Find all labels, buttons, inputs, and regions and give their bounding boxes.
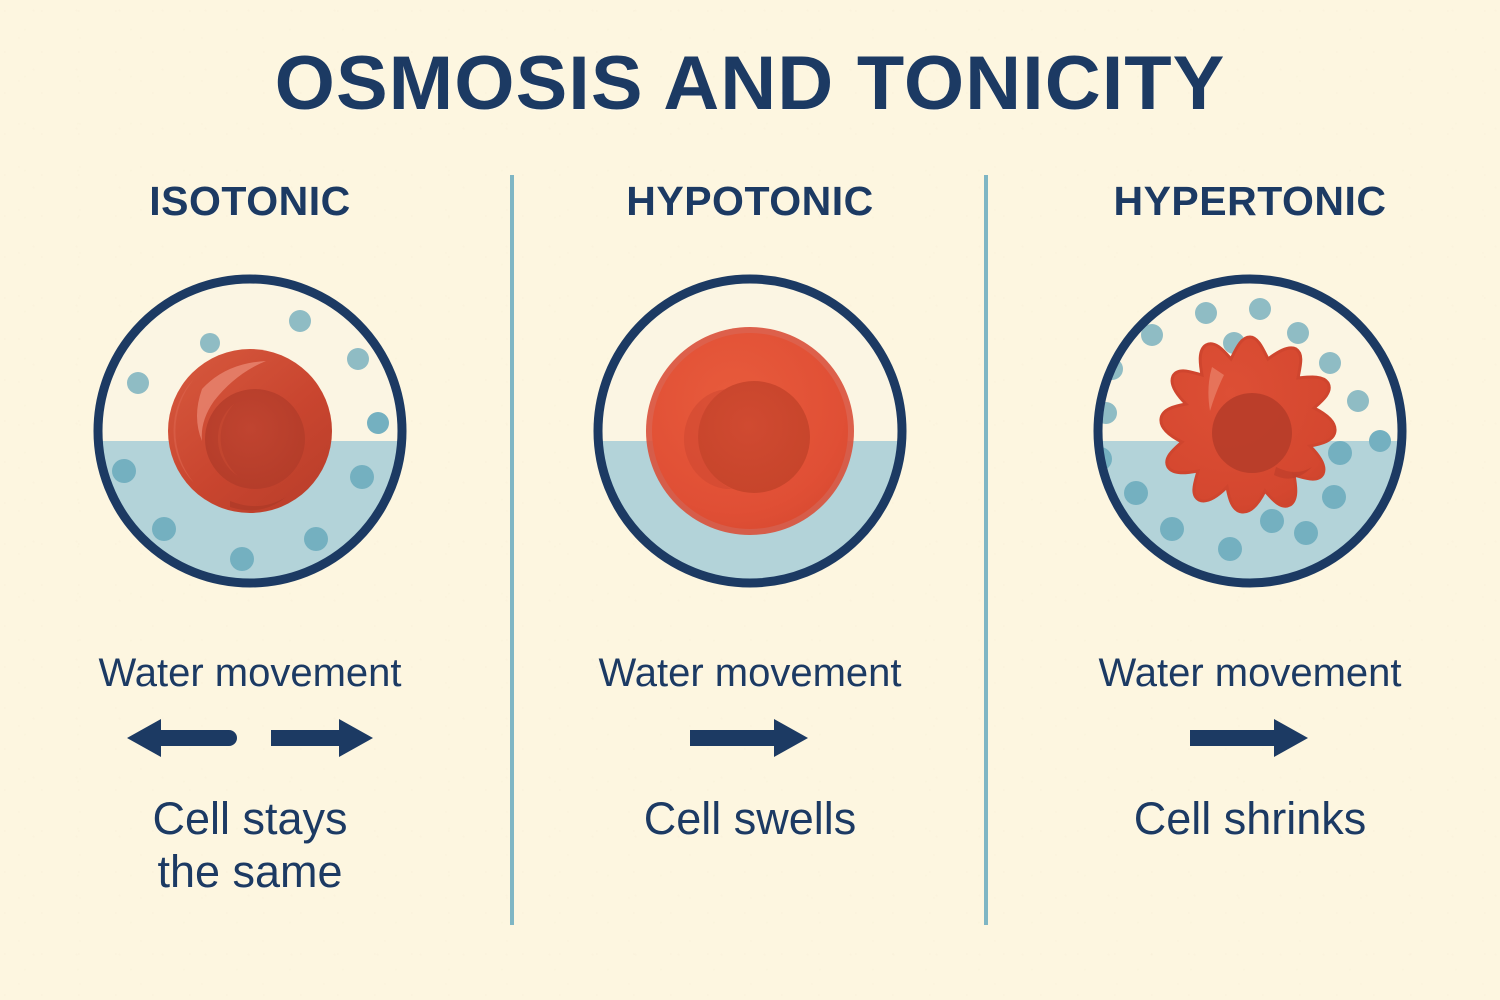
beaker-isotonic (90, 271, 410, 591)
beaker-contents (90, 271, 410, 591)
page-title: OSMOSIS AND TONICITY (0, 40, 1500, 127)
arrow-left-icon (117, 715, 237, 761)
result-label-hypertonic: Cell shrinks (1134, 792, 1367, 845)
result-label-hypotonic: Cell swells (644, 792, 857, 845)
panel-header-hypotonic: HYPOTONIC (626, 178, 874, 225)
beaker-hypotonic (590, 271, 910, 591)
red-blood-cell-isotonic (168, 349, 332, 513)
arrow-right-icon (1182, 715, 1318, 761)
arrow-right-icon (263, 715, 383, 761)
diagram-isotonic (90, 271, 410, 591)
arrow-right-icon (682, 715, 818, 761)
diagram-hypotonic (590, 271, 910, 591)
result-label-isotonic: Cell stays the same (152, 792, 347, 898)
beaker-contents (590, 271, 910, 591)
water-movement-label-hypertonic: Water movement (1098, 651, 1401, 696)
water-movement-label-hypotonic: Water movement (598, 651, 901, 696)
red-blood-cell-hypotonic (646, 327, 854, 535)
arrow-row-isotonic (117, 710, 383, 766)
panels-container: ISOTONIC (0, 170, 1500, 950)
panel-isotonic: ISOTONIC (0, 170, 500, 950)
panel-header-hypertonic: HYPERTONIC (1113, 178, 1386, 225)
panel-hypertonic: HYPERTONIC (1000, 170, 1500, 950)
water-movement-label-isotonic: Water movement (98, 651, 401, 696)
beaker-contents (1090, 271, 1410, 591)
diagram-hypertonic (1090, 271, 1410, 591)
arrow-row-hypotonic (682, 710, 818, 766)
panel-hypotonic: HYPOTONIC (500, 170, 1000, 950)
beaker-hypertonic (1090, 271, 1410, 591)
panel-header-isotonic: ISOTONIC (149, 178, 350, 225)
arrow-row-hypertonic (1182, 710, 1318, 766)
